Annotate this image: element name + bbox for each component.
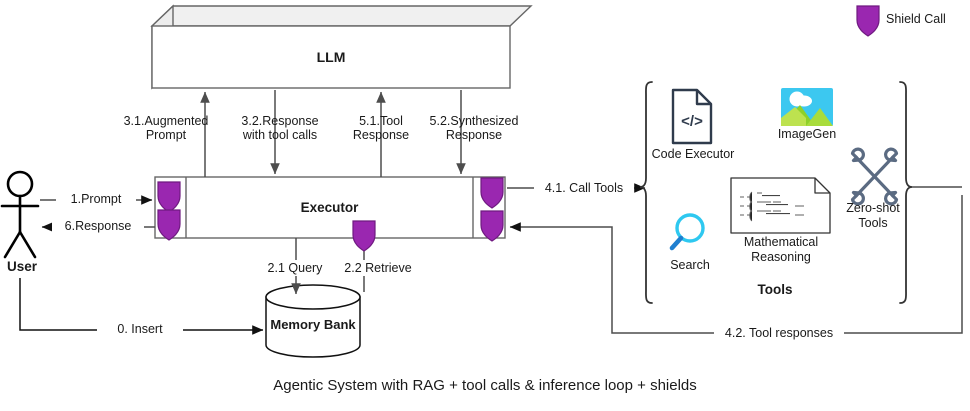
legend-label: Shield Call [886,12,968,28]
code-document-icon: </> [673,90,711,143]
edge-6-response-label: 6.Response [52,218,144,234]
tools-group-brace-right [900,82,912,303]
tool-label-search: Search [660,257,720,273]
svg-text:</>: </> [681,113,703,130]
user-label: User [0,258,44,276]
formula-document-icon [731,178,830,233]
edge-51-tool-response-label: 5.1.Tool Response [338,112,424,144]
edge-32-response-tool-calls-label: 3.2.Response with tool calls [228,112,332,144]
user-stick-figure [2,172,38,257]
memory-bank-label: Memory Bank [266,315,360,335]
edge-22-retrieve-label: 2.2 Retrieve [334,260,422,276]
edge-41-call-tools-label: 4.1. Call Tools [534,180,634,196]
llm-label: LLM [152,44,510,70]
image-icon [781,88,833,126]
edge-1-prompt-label: 1.Prompt [56,191,136,207]
edge-0-insert-label: 0. Insert [97,321,183,337]
tool-label-mathematical-reasoning: Mathematical Reasoning [732,234,830,266]
shield-icon-executor-bottom-center [353,221,375,251]
tools-group-label: Tools [735,281,815,299]
tools-group-brace-left [640,82,652,303]
diagram-caption: Agentic System with RAG + tool calls & i… [0,375,970,397]
edge-31-augmented-prompt-label: 3.1.Augmented Prompt [120,112,212,144]
edge-21-query-label: 2.1 Query [258,260,332,276]
tool-label-code-executor: Code Executor [648,146,738,162]
tool-label-imagegen: ImageGen [766,126,848,142]
magnifier-icon [672,215,703,248]
edge-42-tool-responses-label: 4.2. Tool responses [714,325,844,341]
edge-52-synthesized-response-label: 5.2.Synthesized Response [422,112,526,144]
tool-label-zero-shot-tools: Zero-shot Tools [836,200,910,232]
crossed-wrenches-icon [853,149,897,204]
executor-label: Executor [186,196,473,220]
shield-icon-legend [857,6,879,36]
diagram-canvas: </> [0,0,970,411]
